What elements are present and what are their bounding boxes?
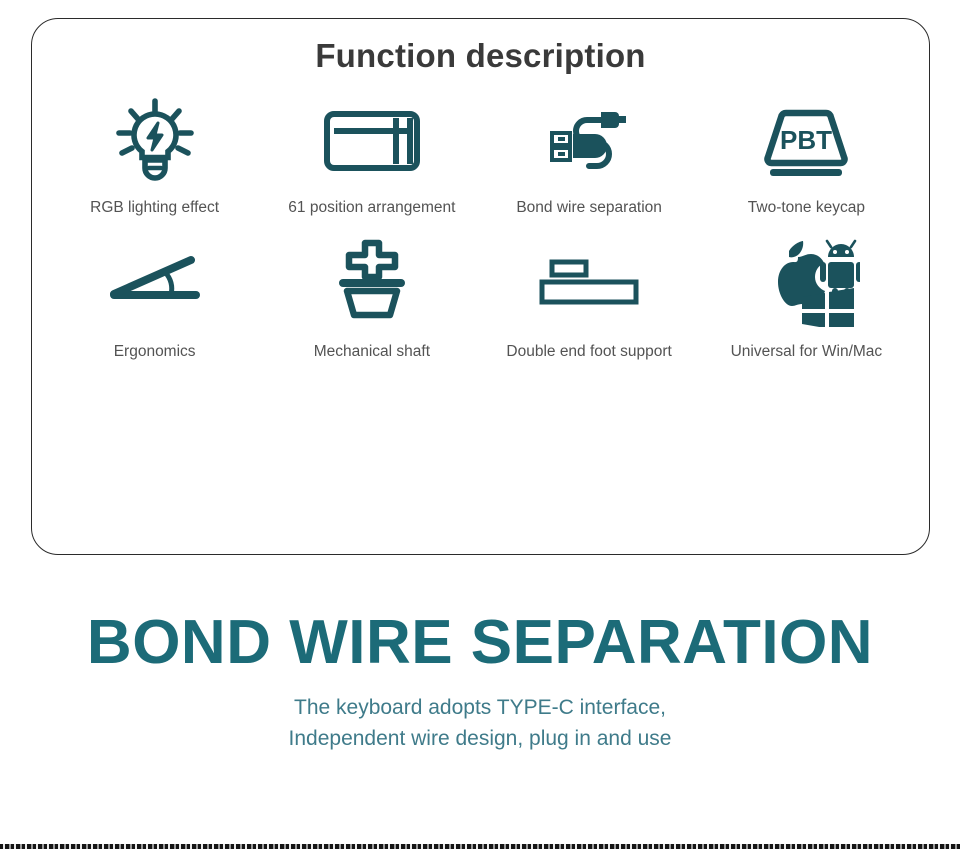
feature-item-foot-support[interactable]: Double end foot support xyxy=(481,229,698,361)
feature-label: Universal for Win/Mac xyxy=(731,343,883,361)
feature-item-bond-wire[interactable]: Bond wire separation xyxy=(481,93,698,225)
feature-label: Bond wire separation xyxy=(516,199,662,217)
os-compatibility-icon xyxy=(752,229,860,329)
feature-label: RGB lighting effect xyxy=(90,199,219,217)
product-feature-page: Function description xyxy=(0,0,960,849)
bottom-edge-strip xyxy=(0,844,960,849)
banner-subtitle-line-2: Independent wire design, plug in and use xyxy=(0,724,960,754)
feature-label: Mechanical shaft xyxy=(314,343,430,361)
mechanical-switch-icon xyxy=(323,229,421,329)
feature-grid: RGB lighting effect 61 position arrangem… xyxy=(32,75,929,383)
feature-item-os-compatibility[interactable]: Universal for Win/Mac xyxy=(698,229,915,361)
feature-item-rgb-lighting[interactable]: RGB lighting effect xyxy=(46,93,263,225)
page-title: Function description xyxy=(32,37,929,75)
double-foot-support-icon xyxy=(534,229,644,329)
feature-label: 61 position arrangement xyxy=(288,199,455,217)
feature-item-key-arrangement[interactable]: 61 position arrangement xyxy=(263,93,480,225)
feature-label: Ergonomics xyxy=(114,343,196,361)
keyboard-layout-icon xyxy=(320,93,424,189)
banner-subtitle-line-1: The keyboard adopts TYPE-C interface, xyxy=(0,693,960,723)
svg-text:PBT: PBT xyxy=(780,125,832,155)
feature-item-mechanical-switch[interactable]: Mechanical shaft xyxy=(263,229,480,361)
usb-detachable-cable-icon xyxy=(539,93,639,189)
banner-subtitle: The keyboard adopts TYPE-C interface, In… xyxy=(0,693,960,754)
feature-item-ergonomics[interactable]: Ergonomics xyxy=(46,229,263,361)
pbt-keycap-icon: PBT xyxy=(756,93,856,189)
ergonomic-wedge-icon xyxy=(103,229,207,329)
lightbulb-rgb-icon xyxy=(109,93,201,189)
function-description-card: Function description xyxy=(31,18,930,555)
feature-label: Double end foot support xyxy=(506,343,671,361)
banner-section: BOND WIRE SEPARATION The keyboard adopts… xyxy=(0,610,960,754)
banner-headline: BOND WIRE SEPARATION xyxy=(0,610,960,675)
feature-item-keycap[interactable]: PBT Two-tone keycap xyxy=(698,93,915,225)
feature-label: Two-tone keycap xyxy=(748,199,865,217)
